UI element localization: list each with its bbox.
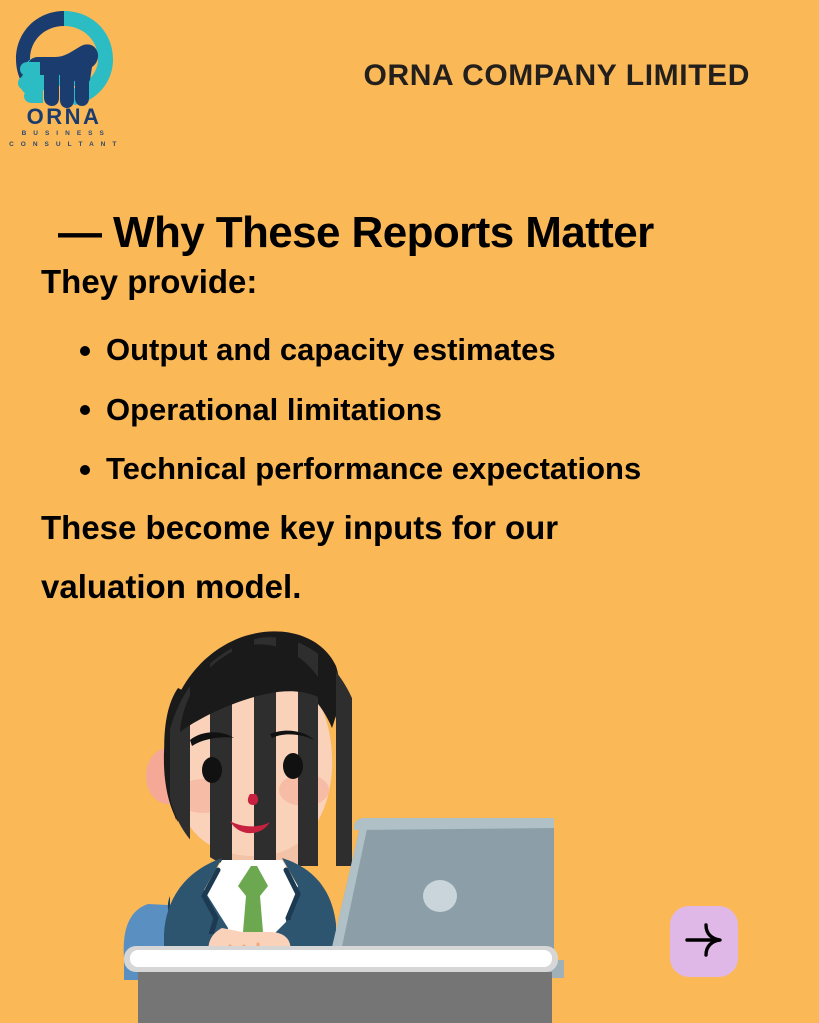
list-item: Output and capacity estimates <box>41 320 781 380</box>
handshake-circle-logo-icon <box>8 6 120 110</box>
bullet-dot-icon <box>80 465 90 475</box>
list-item: Technical performance expectations <box>41 439 781 499</box>
closing-paragraph: These become key inputs for our valuatio… <box>41 499 681 616</box>
lead-text: They provide: <box>41 262 257 302</box>
slide-canvas: ORNA B U S I N E S S C O N S U L T A N T… <box>0 0 819 1023</box>
list-item-label: Operational limitations <box>106 392 442 427</box>
arrow-right-icon <box>682 920 726 963</box>
bullet-dot-icon <box>80 405 90 415</box>
list-item-label: Technical performance expectations <box>106 451 641 486</box>
company-name-heading: ORNA COMPANY LIMITED <box>340 59 750 92</box>
next-slide-button[interactable] <box>670 906 738 977</box>
list-item: Operational limitations <box>41 380 781 440</box>
logo-wordmark: ORNA <box>8 106 120 128</box>
page-title: — Why These Reports Matter <box>58 209 654 257</box>
logo-tagline-consultant: C O N S U L T A N T <box>8 142 120 149</box>
logo-tagline-business: B U S I N E S S <box>8 131 120 138</box>
list-item-label: Output and capacity estimates <box>106 332 556 367</box>
bullet-dot-icon <box>80 346 90 356</box>
brand-logo: ORNA B U S I N E S S C O N S U L T A N T <box>8 6 120 152</box>
businessman-at-laptop-illustration <box>118 628 564 1023</box>
benefits-list: Output and capacity estimates Operationa… <box>41 320 781 499</box>
